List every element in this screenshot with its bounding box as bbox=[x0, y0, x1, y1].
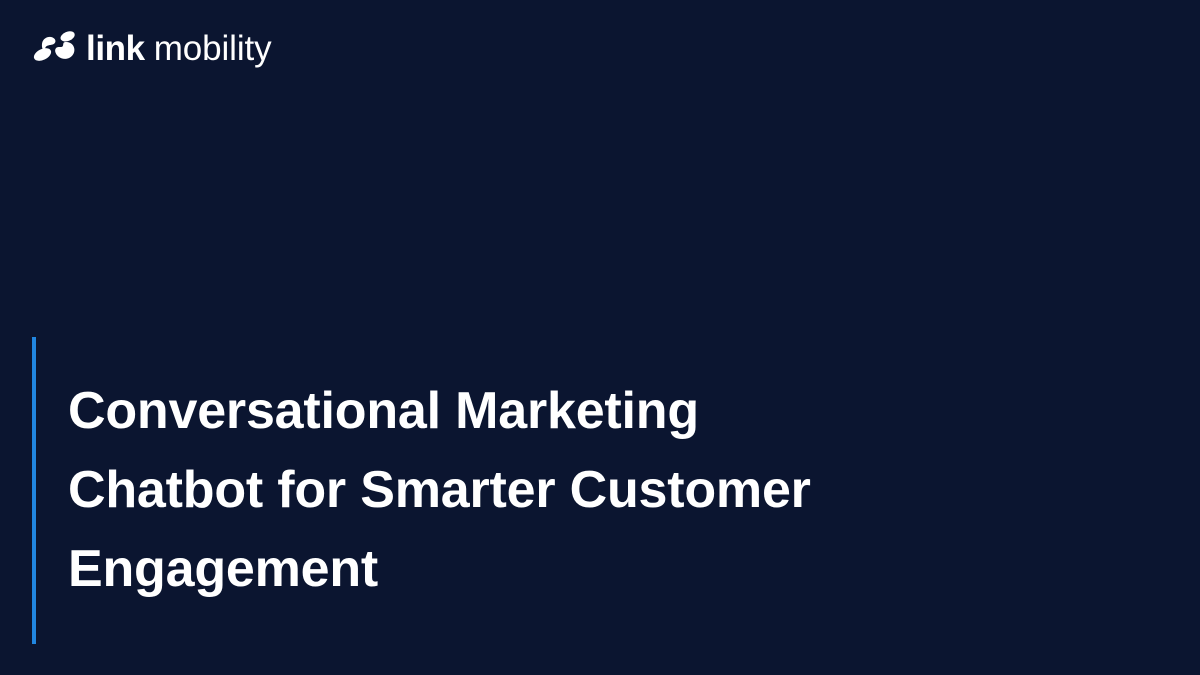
accent-bar bbox=[32, 337, 36, 644]
title-block: Conversational Marketing Chatbot for Sma… bbox=[32, 337, 811, 644]
title-line-2: Chatbot for Smarter Customer bbox=[68, 451, 811, 530]
logo-word-link: link bbox=[86, 31, 145, 66]
logo-wordmark: link mobility bbox=[86, 31, 272, 66]
logo-word-mobility: mobility bbox=[154, 31, 272, 66]
title-line-1: Conversational Marketing bbox=[68, 372, 811, 451]
brand-logo[interactable]: link mobility bbox=[32, 24, 272, 70]
title-line-3: Engagement bbox=[68, 530, 811, 609]
link-mobility-blob-mark-icon bbox=[32, 29, 78, 65]
page-title: Conversational Marketing Chatbot for Sma… bbox=[68, 372, 811, 609]
slide-canvas: link mobility Conversational Marketing C… bbox=[0, 0, 1200, 675]
